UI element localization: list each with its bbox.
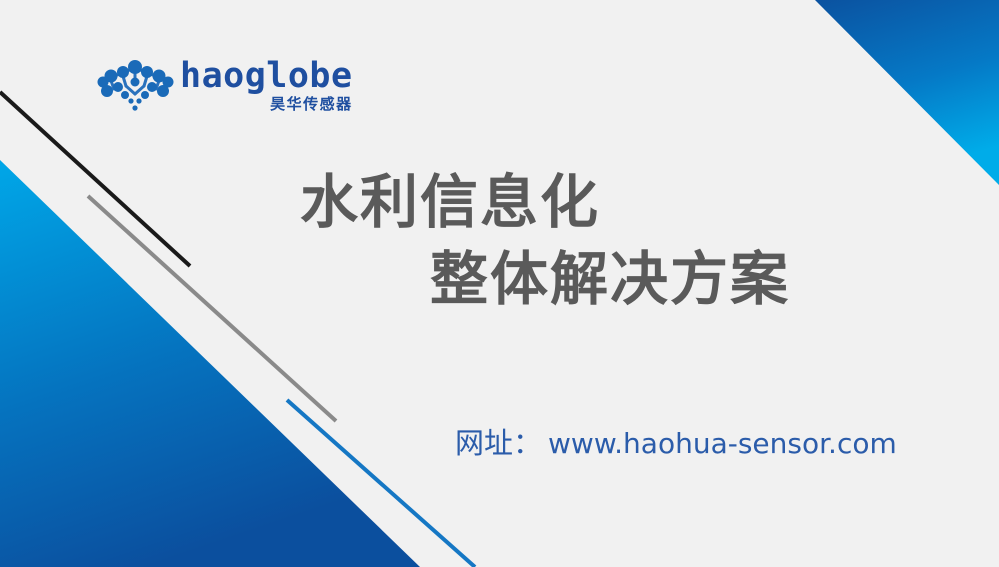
website-label: 网址： bbox=[455, 420, 542, 462]
page-title: 水利信息化 整体解决方案 bbox=[300, 164, 900, 317]
website-line: 网址： www.haohua-sensor.com bbox=[455, 420, 897, 462]
brand-logo: haoglobe 昊华传感器 bbox=[96, 56, 353, 114]
title-line-2: 整体解决方案 bbox=[300, 241, 900, 318]
title-line-1: 水利信息化 bbox=[300, 164, 900, 241]
logo-wordmark: haoglobe bbox=[180, 59, 353, 94]
blue-diagonal-line bbox=[287, 400, 475, 567]
website-url[interactable]: www.haohua-sensor.com bbox=[548, 427, 897, 460]
black-diagonal-line bbox=[0, 92, 190, 266]
right-blue-triangle bbox=[815, 0, 999, 185]
presentation-title-slide: haoglobe 昊华传感器 水利信息化 整体解决方案 网址： www.haoh… bbox=[0, 0, 999, 567]
network-dots-icon bbox=[96, 56, 174, 114]
logo-text: haoglobe 昊华传感器 bbox=[180, 59, 353, 112]
gray-diagonal-line bbox=[88, 196, 336, 421]
logo-chinese-name: 昊华传感器 bbox=[270, 97, 353, 112]
